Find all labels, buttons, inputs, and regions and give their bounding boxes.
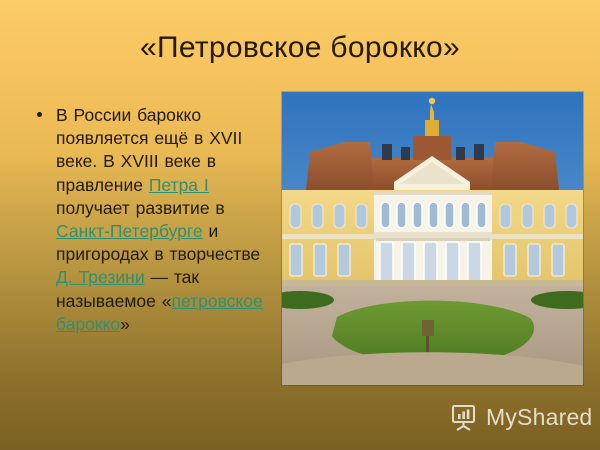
- presentation-chart-icon: [449, 402, 479, 432]
- body-paragraph: В России барокко появляется ещё в XVII в…: [56, 104, 268, 336]
- bullet-list-item: В России барокко появляется ещё в XVII в…: [32, 104, 268, 336]
- link-d-trezini[interactable]: Д. Трезини: [56, 267, 145, 287]
- link-sankt-peterburg[interactable]: Санкт-Петербурге: [56, 221, 203, 241]
- slide-canvas: «Петровское борокко» В России барокко по…: [0, 0, 600, 450]
- page-title: «Петровское борокко»: [0, 28, 600, 68]
- content-placeholder: В России барокко появляется ещё в XVII в…: [32, 104, 268, 336]
- myshared-logo: MyShared: [449, 402, 592, 432]
- link-petra-i[interactable]: Петра I: [149, 175, 209, 195]
- palace-photo: [282, 92, 583, 385]
- bullet-marker: [37, 112, 42, 117]
- text-run-5: »: [120, 314, 130, 334]
- myshared-logo-text: MyShared: [486, 402, 592, 432]
- text-run-2: получает развитие в: [56, 198, 225, 218]
- palace-photo-graphic: [282, 92, 583, 385]
